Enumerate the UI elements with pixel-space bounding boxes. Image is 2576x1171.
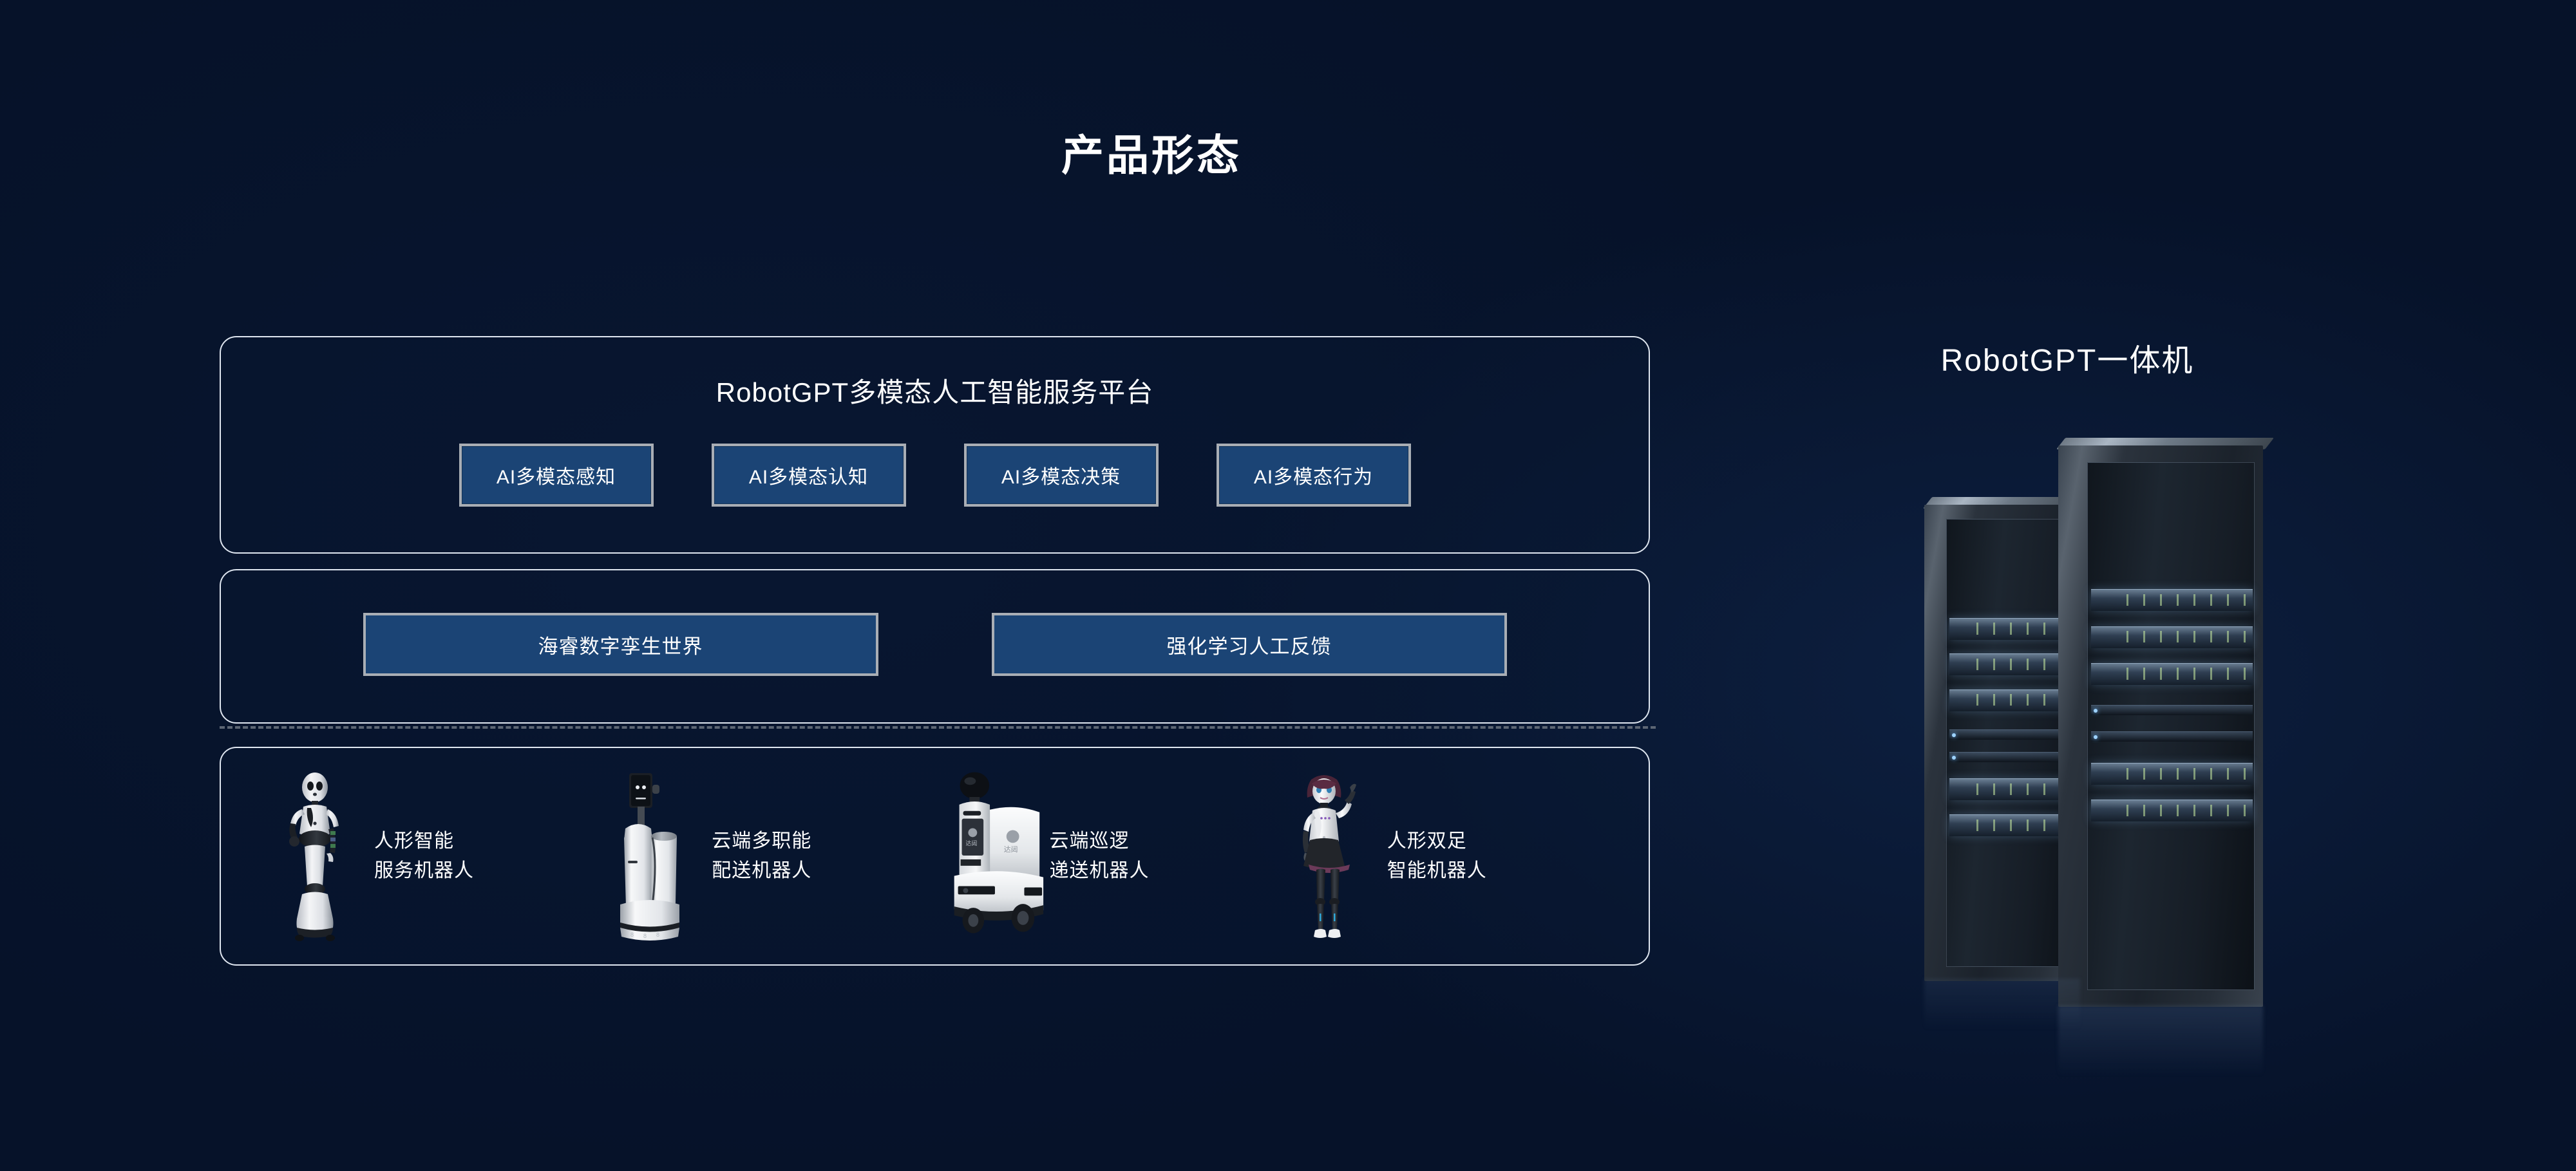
robot-label-line1: 人形智能 [374, 827, 474, 857]
robot-label-line2: 递送机器人 [1050, 856, 1150, 886]
platform-stack: RobotGPT多模态人工智能服务平台 AI多模态感知 AI多模态认知 AI多模… [220, 336, 1650, 966]
appliance-title: RobotGPT一体机 [1848, 335, 2286, 380]
server-rack-front-reflection [2058, 1006, 2263, 1076]
server-blade [1949, 778, 2072, 800]
server-blade [1949, 618, 2072, 640]
section-divider [220, 726, 1656, 729]
server-rack-front [2058, 445, 2263, 1007]
capability-chip-behavior[interactable]: AI多模态行为 [1217, 444, 1411, 507]
humanoid-service-robot-icon [260, 769, 363, 943]
server-slot [2091, 731, 2253, 742]
robot-label-line2: 配送机器人 [712, 856, 811, 886]
appliance-panel: RobotGPT一体机 [1816, 335, 2396, 1063]
robot-row: 人形智能 服务机器人 [221, 748, 1649, 964]
page-title: 产品形态 [0, 121, 2576, 183]
server-rack-back [1924, 505, 2080, 981]
robot-label-line1: 云端多职能 [712, 827, 811, 857]
server-rack-pair-icon [1816, 420, 2396, 1063]
capability-chip-decision[interactable]: AI多模态决策 [964, 444, 1159, 507]
engine-card: 海睿数字孪生世界 强化学习人工反馈 [220, 569, 1650, 724]
robot-label-line2: 智能机器人 [1387, 856, 1487, 886]
engine-chip-row: 海睿数字孪生世界 强化学习人工反馈 [221, 570, 1649, 676]
svg-text:8: 8 [643, 933, 647, 939]
robot-item-humanoid-service[interactable]: 人形智能 服务机器人 [260, 769, 597, 943]
capability-chip-perception[interactable]: AI多模态感知 [459, 444, 654, 507]
server-blade [2091, 589, 2253, 611]
engine-chip-rlhf[interactable]: 强化学习人工反馈 [992, 613, 1507, 676]
robot-label-patrol-delivery: 云端巡逻 递送机器人 [1050, 827, 1150, 886]
capability-chip-row: AI多模态感知 AI多模态认知 AI多模态决策 AI多模态行为 [221, 444, 1649, 507]
server-rack-front-face [2087, 462, 2255, 990]
server-rack-back-reflection [1924, 979, 2080, 1030]
svg-text:达闼: 达闼 [1003, 845, 1018, 854]
server-blade [2091, 800, 2253, 821]
platform-card: RobotGPT多模态人工智能服务平台 AI多模态感知 AI多模态认知 AI多模… [220, 336, 1650, 554]
page-title-text: 产品形态 [1061, 121, 1242, 183]
server-rack-back-face [1946, 519, 2074, 967]
server-blade [2091, 663, 2253, 685]
capability-chip-cognition[interactable]: AI多模态认知 [712, 444, 906, 507]
server-blade [1949, 689, 2072, 711]
svg-text:8: 8 [630, 932, 634, 938]
robot-label-line2: 服务机器人 [374, 856, 474, 886]
server-blade [1949, 653, 2072, 675]
platform-title: RobotGPT多模态人工智能服务平台 [221, 337, 1649, 410]
patrol-delivery-robot-icon: 达闼 达闼 [935, 769, 1038, 943]
server-blade [2091, 626, 2253, 648]
engine-chip-digital-twin[interactable]: 海睿数字孪生世界 [363, 613, 878, 676]
robot-item-biped-humanoid[interactable]: 人形双足 智能机器人 [1273, 769, 1610, 943]
robot-item-patrol-delivery[interactable]: 达闼 达闼 [935, 769, 1273, 943]
server-blade [2091, 763, 2253, 785]
robot-label-humanoid-service: 人形智能 服务机器人 [374, 827, 474, 886]
robot-card: 人形智能 服务机器人 [220, 747, 1650, 966]
svg-text:达闼: 达闼 [965, 839, 977, 847]
server-rack-front-body [2058, 445, 2263, 1007]
server-rack-back-body [1924, 505, 2080, 981]
server-slot [2091, 705, 2253, 715]
robot-label-line1: 人形双足 [1387, 827, 1487, 857]
svg-text:8: 8 [656, 932, 659, 938]
server-blade [1949, 814, 2072, 836]
server-slot [1949, 752, 2072, 762]
robot-label-biped-humanoid: 人形双足 智能机器人 [1387, 827, 1487, 886]
biped-humanoid-robot-icon [1273, 769, 1376, 943]
cloud-delivery-robot-icon: 8 8 8 [597, 769, 700, 943]
robot-label-line1: 云端巡逻 [1050, 827, 1150, 857]
robot-label-cloud-delivery: 云端多职能 配送机器人 [712, 827, 811, 886]
server-slot [1949, 729, 2072, 740]
robot-item-cloud-delivery[interactable]: 8 8 8 云端多职能 配送机器人 [597, 769, 934, 943]
